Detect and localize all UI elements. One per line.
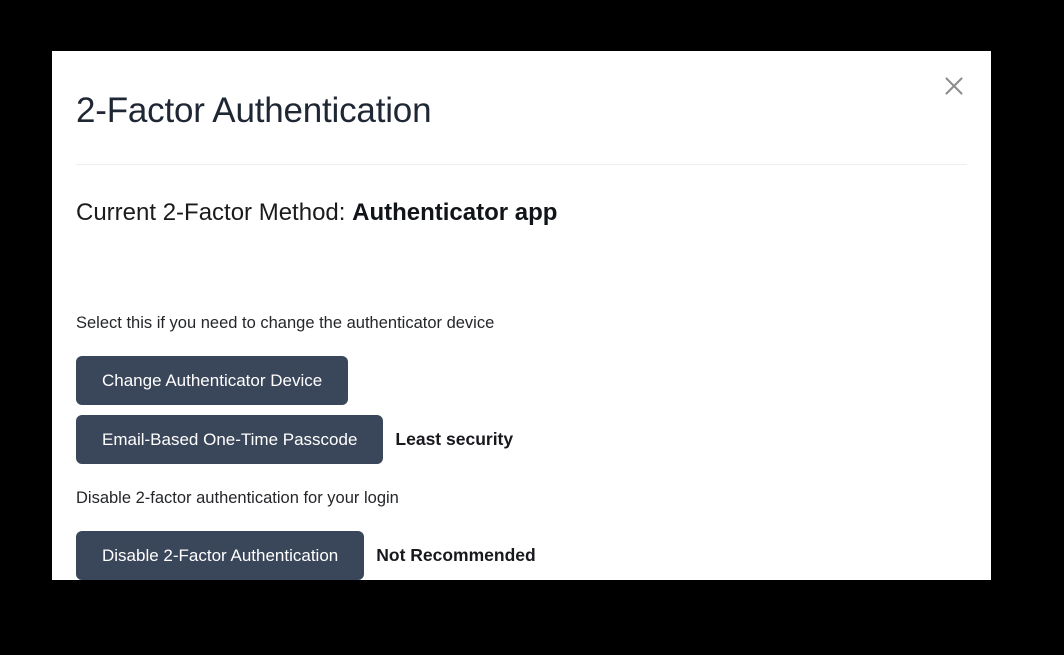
disable-2fa-description: Disable 2-factor authentication for your…	[76, 488, 399, 509]
email-one-time-passcode-button[interactable]: Email-Based One-Time Passcode	[76, 415, 383, 464]
disable-2fa-row: Disable 2-Factor Authentication Not Reco…	[76, 531, 536, 580]
least-security-note: Least security	[395, 429, 513, 450]
two-factor-authentication-dialog: 2-Factor Authentication Current 2-Factor…	[52, 51, 991, 580]
not-recommended-note: Not Recommended	[376, 545, 535, 566]
change-device-description: Select this if you need to change the au…	[76, 313, 494, 334]
email-passcode-row: Email-Based One-Time Passcode Least secu…	[76, 415, 513, 464]
disable-two-factor-authentication-button[interactable]: Disable 2-Factor Authentication	[76, 531, 364, 580]
current-method-line: Current 2-Factor Method: Authenticator a…	[76, 199, 557, 228]
current-method-label: Current 2-Factor Method:	[76, 199, 345, 226]
change-authenticator-device-button[interactable]: Change Authenticator Device	[76, 356, 348, 405]
change-device-row: Change Authenticator Device	[76, 356, 348, 405]
page-title: 2-Factor Authentication	[76, 90, 431, 132]
close-icon	[942, 74, 966, 98]
dialog-header: 2-Factor Authentication	[52, 51, 991, 164]
header-divider	[76, 164, 967, 165]
current-method-value: Authenticator app	[352, 199, 557, 226]
close-button[interactable]	[930, 62, 978, 110]
